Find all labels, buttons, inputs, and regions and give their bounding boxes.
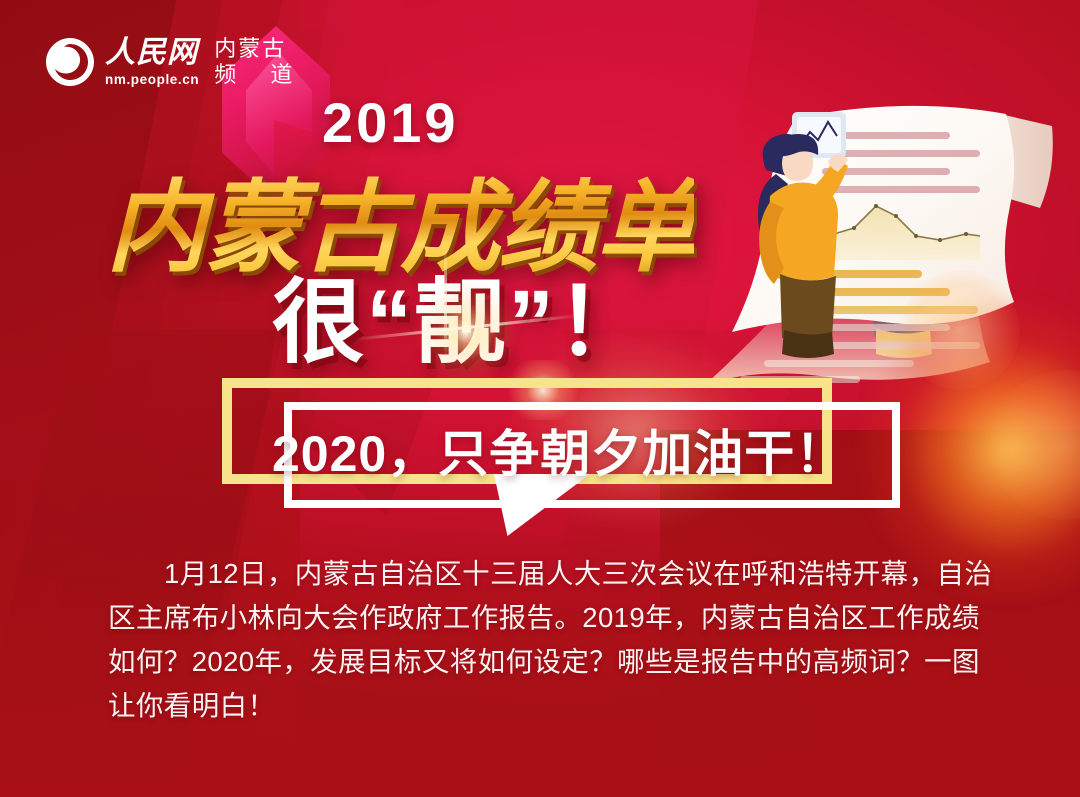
renmin-wang-globe-icon — [44, 36, 96, 88]
people-with-report-scroll-illustration — [700, 78, 1080, 408]
logo-text-block: 人民网 nm.people.cn — [105, 38, 199, 87]
logo-name-cn: 人民网 — [105, 38, 199, 68]
logo-channel-block: 内蒙古 频 道 — [214, 36, 306, 87]
poster-canvas: 人民网 nm.people.cn 内蒙古 频 道 2019 内蒙古成绩单 很“靓… — [0, 0, 1080, 797]
lens-flare-streak-v — [444, 246, 447, 356]
site-logo[interactable]: 人民网 nm.people.cn 内蒙古 频 道 — [44, 36, 306, 88]
callout-banner: 2020，只争朝夕加油干！ — [222, 378, 902, 518]
logo-channel-line1: 内蒙古 — [214, 36, 306, 62]
logo-url: nm.people.cn — [105, 73, 199, 87]
logo-channel-line2: 频 道 — [214, 62, 306, 88]
body-paragraph: 1月12日，内蒙古自治区十三届人大三次会议在呼和浩特开幕，自治区主席布小林向大会… — [108, 552, 994, 728]
callout-text: 2020，只争朝夕加油干！ — [272, 414, 872, 486]
